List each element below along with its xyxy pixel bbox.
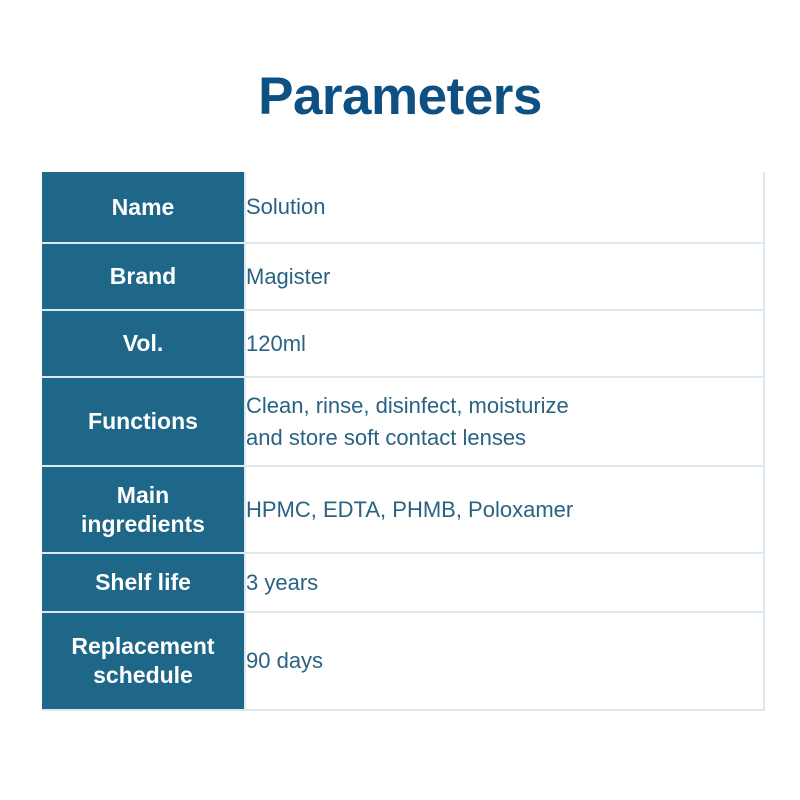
row-label-main-ingredients: Main ingredients [42, 466, 245, 553]
label-line: Replacement [42, 632, 244, 661]
table-row: Vol. 120ml [42, 310, 764, 377]
row-value-brand: Magister [245, 243, 764, 310]
value-line: HPMC, EDTA, PHMB, Poloxamer [246, 494, 763, 525]
value-line: Clean, rinse, disinfect, moisturize [246, 390, 763, 421]
row-label-brand: Brand [42, 243, 245, 310]
table-row: Functions Clean, rinse, disinfect, moist… [42, 377, 764, 466]
table-row: Replacement schedule 90 days [42, 612, 764, 710]
row-label-vol: Vol. [42, 310, 245, 377]
row-value-main-ingredients: HPMC, EDTA, PHMB, Poloxamer [245, 466, 764, 553]
parameters-table: Name Solution Brand Magister Vol. 120ml … [42, 172, 765, 711]
row-value-replacement-schedule: 90 days [245, 612, 764, 710]
row-value-name: Solution [245, 172, 764, 243]
row-label-name: Name [42, 172, 245, 243]
value-line: 90 days [246, 645, 763, 676]
label-line: ingredients [42, 510, 244, 539]
table-row: Brand Magister [42, 243, 764, 310]
parameters-page: Parameters Name Solution Brand Magister … [0, 0, 800, 800]
table-row: Shelf life 3 years [42, 553, 764, 612]
row-label-functions: Functions [42, 377, 245, 466]
table-row: Name Solution [42, 172, 764, 243]
page-title: Parameters [0, 68, 800, 126]
row-label-replacement-schedule: Replacement schedule [42, 612, 245, 710]
label-line: schedule [42, 661, 244, 690]
value-line: Magister [246, 261, 763, 292]
row-value-vol: 120ml [245, 310, 764, 377]
value-line: 120ml [246, 328, 763, 359]
label-line: Main [42, 481, 244, 510]
value-line: 3 years [246, 567, 763, 598]
row-value-shelf-life: 3 years [245, 553, 764, 612]
value-line: and store soft contact lenses [246, 422, 763, 453]
row-value-functions: Clean, rinse, disinfect, moisturize and … [245, 377, 764, 466]
table-row: Main ingredients HPMC, EDTA, PHMB, Polox… [42, 466, 764, 553]
parameters-table-body: Name Solution Brand Magister Vol. 120ml … [42, 172, 764, 710]
row-label-shelf-life: Shelf life [42, 553, 245, 612]
value-line: Solution [246, 191, 763, 222]
